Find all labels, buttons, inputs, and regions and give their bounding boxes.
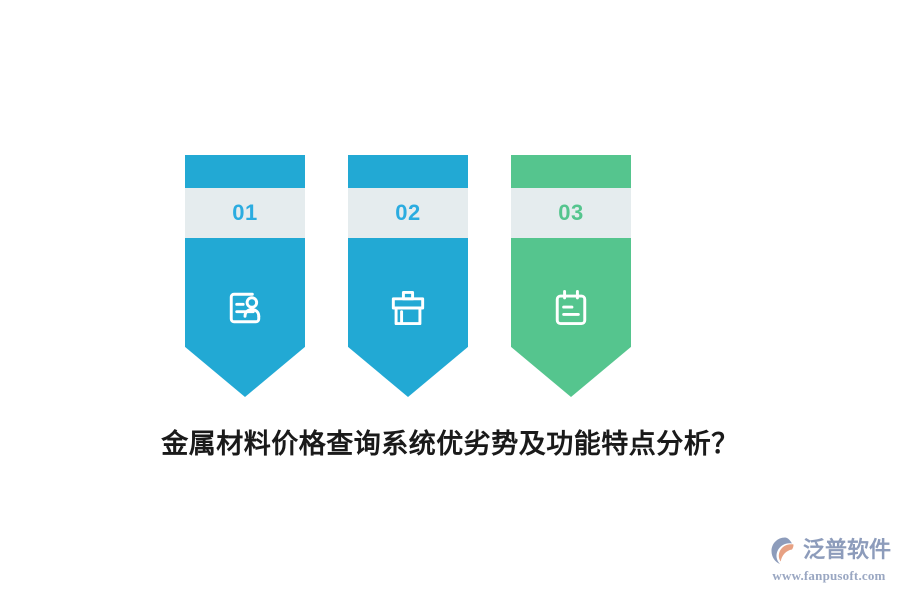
banner-number-label-01: 01	[232, 202, 257, 224]
step-banner-01[interactable]: 01	[185, 155, 305, 397]
page-title: 金属材料价格查询系统优劣势及功能特点分析？	[0, 428, 900, 462]
notepad-memo-icon	[511, 280, 631, 336]
banner-number-label-03: 03	[558, 202, 583, 224]
banner-number-label-02: 02	[395, 202, 420, 224]
step-banner-02[interactable]: 02	[348, 155, 468, 397]
brand-name: 泛普软件	[803, 540, 891, 562]
brand-watermark: 泛普软件 www.fanpusoft.com	[770, 534, 888, 590]
storefront-shop-icon	[348, 280, 468, 336]
step-banner-03[interactable]: 03	[511, 155, 631, 397]
brand-url: www.fanpusoft.com	[770, 569, 888, 582]
id-card-person-icon	[185, 280, 305, 336]
banner-number-band-01: 01	[185, 188, 305, 238]
fanpu-swirl-logo-icon	[770, 536, 800, 566]
banner-number-band-02: 02	[348, 188, 468, 238]
step-banner-row: 01 02	[185, 155, 635, 400]
brand-lockup: 泛普软件	[770, 534, 888, 568]
banner-number-band-03: 03	[511, 188, 631, 238]
poster-canvas: 01 02	[0, 0, 900, 600]
